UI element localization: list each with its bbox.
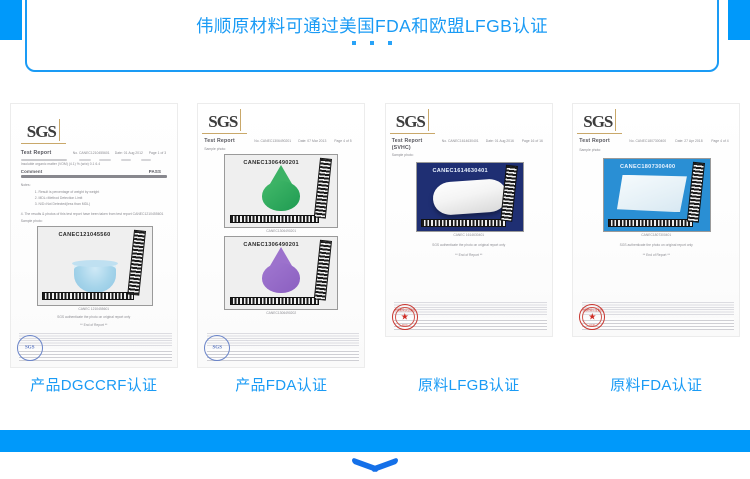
doc-title: Test Report	[21, 150, 52, 156]
header-edge-block-right	[728, 0, 750, 40]
doc-footer: SGS	[198, 327, 364, 367]
header-frame: 权威资质认证 伟顺原材料可通过美国FDA和欧盟LFGB认证	[25, 0, 719, 72]
photo-caption-2: CANEC1306490202	[198, 311, 364, 315]
end-of-report-note: ** End of Report **	[573, 253, 739, 257]
doc-date: Date: 27 Apr 2018	[675, 139, 702, 143]
doc-date: Date: 07 Mar 2013	[298, 139, 326, 143]
seal-ring-bottom: CCIC	[589, 324, 595, 327]
ruler-horizontal	[230, 297, 320, 305]
ccic-seal-icon: 中国检验认证集团 ★ CCIC	[579, 304, 605, 330]
doc-date: Date: 01 Aug 2012	[115, 151, 143, 155]
star-icon: ★	[401, 313, 409, 322]
authenticate-note: SGS authenticate the photo on original r…	[11, 315, 177, 319]
sample-code: CANEC1614630401	[417, 168, 504, 174]
sgs-logo-icon: SGS	[396, 112, 425, 132]
sample-photo-label: Sample photo:	[204, 147, 226, 151]
ccic-seal-icon: 中国检验认证集团 ★ CCIC	[392, 304, 418, 330]
dot-1	[352, 41, 356, 45]
sgs-logo-icon: SGS	[208, 112, 237, 132]
sample-photo-label: Sample photo:	[579, 148, 601, 152]
doc-footer: 中国检验认证集团 ★ CCIC	[573, 296, 739, 336]
ruler-horizontal	[42, 292, 133, 300]
certificate-column-2: SGS Test Report No. CANEC1306490201 Date…	[188, 104, 376, 369]
doc-date: Date: 01 Aug 2016	[486, 139, 514, 143]
header-edge-block-left	[0, 0, 22, 40]
header-dots	[27, 41, 717, 45]
photo-caption: CANEC 1614630401	[386, 233, 552, 237]
doc-title: Test Report	[392, 138, 423, 144]
ruler-vertical	[313, 157, 331, 218]
doc-note-4: 4. The results & photos of this test rep…	[21, 212, 164, 216]
certificate-captions: 产品DGCCRF认证 产品FDA认证 原料LFGB认证 原料FDA认证	[0, 374, 750, 402]
doc-note-1: 1. Result is percentage of weight by wei…	[35, 190, 99, 194]
photo-caption: CANEC 1210455601	[11, 307, 177, 311]
sample-object-white-sheet	[617, 175, 687, 212]
doc-subtitle: (SVHC)	[392, 145, 411, 151]
caption-fda-product: 产品FDA认证	[188, 374, 376, 402]
header-banner: 权威资质认证 伟顺原材料可通过美国FDA和欧盟LFGB认证	[0, 0, 750, 90]
sgs-seal-icon: SGS	[17, 335, 43, 361]
authenticate-note: SGS authenticate the photo on original r…	[386, 243, 552, 247]
photo-caption: CANEC1807300401	[573, 233, 739, 237]
end-of-report-note: ** End of Report **	[386, 253, 552, 257]
doc-footer: SGS	[11, 327, 177, 367]
doc-title: Test Report	[204, 138, 235, 144]
doc-ref-no: No. CANEC1614630401	[442, 139, 479, 143]
doc-comment-value: PASS	[149, 169, 161, 174]
dot-3	[388, 41, 392, 45]
doc-comment-label: Comment	[21, 169, 43, 174]
authenticate-note: SGS authenticate the photo on original r…	[573, 243, 739, 247]
certificate-card-lfgb-material[interactable]: SGS Test Report (SVHC) No. CANEC16146304…	[386, 104, 552, 336]
seal-text: SGS	[25, 346, 34, 351]
sample-object-purple-cone	[262, 247, 300, 293]
caption-fda-material: 原料FDA认证	[563, 374, 750, 402]
seal-ring-bottom: CCIC	[402, 324, 408, 327]
star-icon: ★	[588, 313, 596, 322]
caption-dgccrf: 产品DGCCRF认证	[0, 374, 188, 402]
sample-photo: CANEC1614630401	[416, 162, 524, 232]
sample-photo-label: Sample photo:	[21, 219, 43, 223]
doc-notes-label: Notes:	[21, 183, 31, 187]
doc-note-3: 3. N/D=Not Detected(less than MDL)	[35, 202, 90, 206]
ruler-horizontal	[421, 219, 506, 226]
certificate-column-3: SGS Test Report (SVHC) No. CANEC16146304…	[375, 104, 563, 369]
sample-photo: CANEC121045560	[37, 226, 153, 306]
seal-text: SGS	[213, 346, 222, 351]
sample-photo-1: CANEC1306490201	[224, 154, 338, 228]
doc-page: Page 16 of 16	[522, 139, 543, 143]
doc-page: Page 4 of 4	[711, 139, 728, 143]
doc-ref-no: No. CANEC1306490201	[254, 139, 291, 143]
sample-photo: CANEC1807300400	[603, 158, 711, 232]
certificate-card-dgccrf[interactable]: SGS Test Report No. CANEC1210455601 Date…	[11, 104, 177, 367]
certificate-column-1: SGS Test Report No. CANEC1210455601 Date…	[0, 104, 188, 369]
footer-blue-bar	[0, 430, 750, 452]
ruler-horizontal	[230, 215, 320, 223]
sample-photo-label: Sample photo:	[392, 153, 414, 157]
ruler-vertical	[313, 239, 331, 300]
sample-object-white-pillow	[432, 178, 508, 216]
sgs-logo-icon: SGS	[27, 122, 56, 142]
dot-2	[370, 41, 374, 45]
doc-title: Test Report	[579, 138, 610, 144]
sample-code: CANEC121045560	[38, 232, 131, 238]
ruler-vertical	[500, 165, 517, 222]
certificate-card-fda-material[interactable]: SGS Test Report No. CANEC1807300400 Date…	[573, 104, 739, 336]
doc-page: Page 1 of 3	[149, 151, 166, 155]
doc-ref-no: No. CANEC1210455601	[73, 151, 110, 155]
certificate-gallery: SGS Test Report No. CANEC1210455601 Date…	[0, 104, 750, 369]
sample-object-bowl	[74, 263, 116, 293]
scroll-down-chevron-icon[interactable]	[352, 462, 398, 478]
certificate-column-4: SGS Test Report No. CANEC1807300400 Date…	[563, 104, 750, 369]
ruler-vertical	[127, 230, 146, 296]
photo-caption-1: CANEC1306490201	[198, 229, 364, 233]
ruler-vertical	[687, 161, 705, 222]
sgs-logo-icon: SGS	[583, 112, 612, 132]
doc-result-row: Insoluble organic matter (VOM) (4.1) % (…	[21, 162, 100, 166]
certificate-card-fda-product[interactable]: SGS Test Report No. CANEC1306490201 Date…	[198, 104, 364, 367]
doc-page: Page 4 of 5	[334, 139, 351, 143]
doc-ref-no: No. CANEC1807300400	[629, 139, 666, 143]
sgs-seal-icon: SGS	[204, 335, 230, 361]
header-subtitle: 伟顺原材料可通过美国FDA和欧盟LFGB认证	[27, 13, 717, 38]
sample-photo-2: CANEC1306490201	[224, 236, 338, 310]
chevron-right-stroke	[372, 457, 398, 472]
doc-footer: 中国检验认证集团 ★ CCIC	[386, 296, 552, 336]
sample-object-green-cone	[262, 165, 300, 211]
doc-note-2: 2. MDL=Method Detection Limit	[35, 196, 83, 200]
sample-code: CANEC1807300400	[604, 164, 691, 170]
caption-lfgb-material: 原料LFGB认证	[375, 374, 563, 402]
ruler-horizontal	[608, 219, 693, 227]
